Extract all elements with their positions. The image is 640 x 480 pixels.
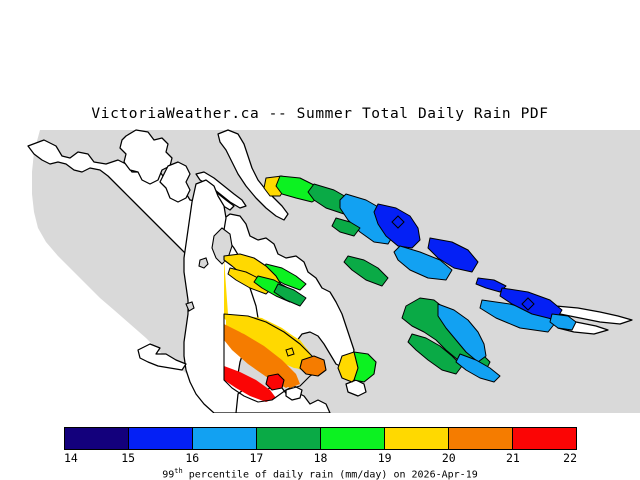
colorbar-tick-7: 21 [506,451,520,465]
colorbar-tick-1: 15 [121,451,135,465]
colorbar-band-0[interactable] [65,428,128,449]
colorbar-tick-8: 22 [563,451,577,465]
weather-map-page: VictoriaWeather.ca -- Summer Total Daily… [0,0,640,480]
colorbar-tick-labels: 14 15 16 17 18 19 20 21 22 [0,451,640,467]
colorbar-tick-2: 16 [185,451,199,465]
colorbar-band-1[interactable] [128,428,192,449]
colorbar-tick-0: 14 [64,451,78,465]
colorbar-band-7[interactable] [512,428,576,449]
colorbar-band-2[interactable] [192,428,256,449]
map-svg[interactable] [0,128,640,413]
caption-rest: percentile of daily rain (mm/day) on 202… [183,469,478,480]
colorbar-band-4[interactable] [320,428,384,449]
colorbar-bands[interactable] [64,427,577,450]
colorbar-band-5[interactable] [384,428,448,449]
map-canvas[interactable] [0,128,640,413]
colorbar[interactable]: 14 15 16 17 18 19 20 21 22 99th percenti… [0,415,640,480]
colorbar-caption: 99th percentile of daily rain (mm/day) o… [0,467,640,480]
caption-prefix: 99 [162,469,174,480]
colorbar-tick-6: 20 [442,451,456,465]
page-title: VictoriaWeather.ca -- Summer Total Daily… [0,106,640,122]
colorbar-tick-3: 17 [249,451,263,465]
colorbar-tick-5: 19 [378,451,392,465]
colorbar-tick-4: 18 [314,451,328,465]
colorbar-band-6[interactable] [448,428,512,449]
caption-ordinal-suffix: th [174,467,182,475]
colorbar-band-3[interactable] [256,428,320,449]
